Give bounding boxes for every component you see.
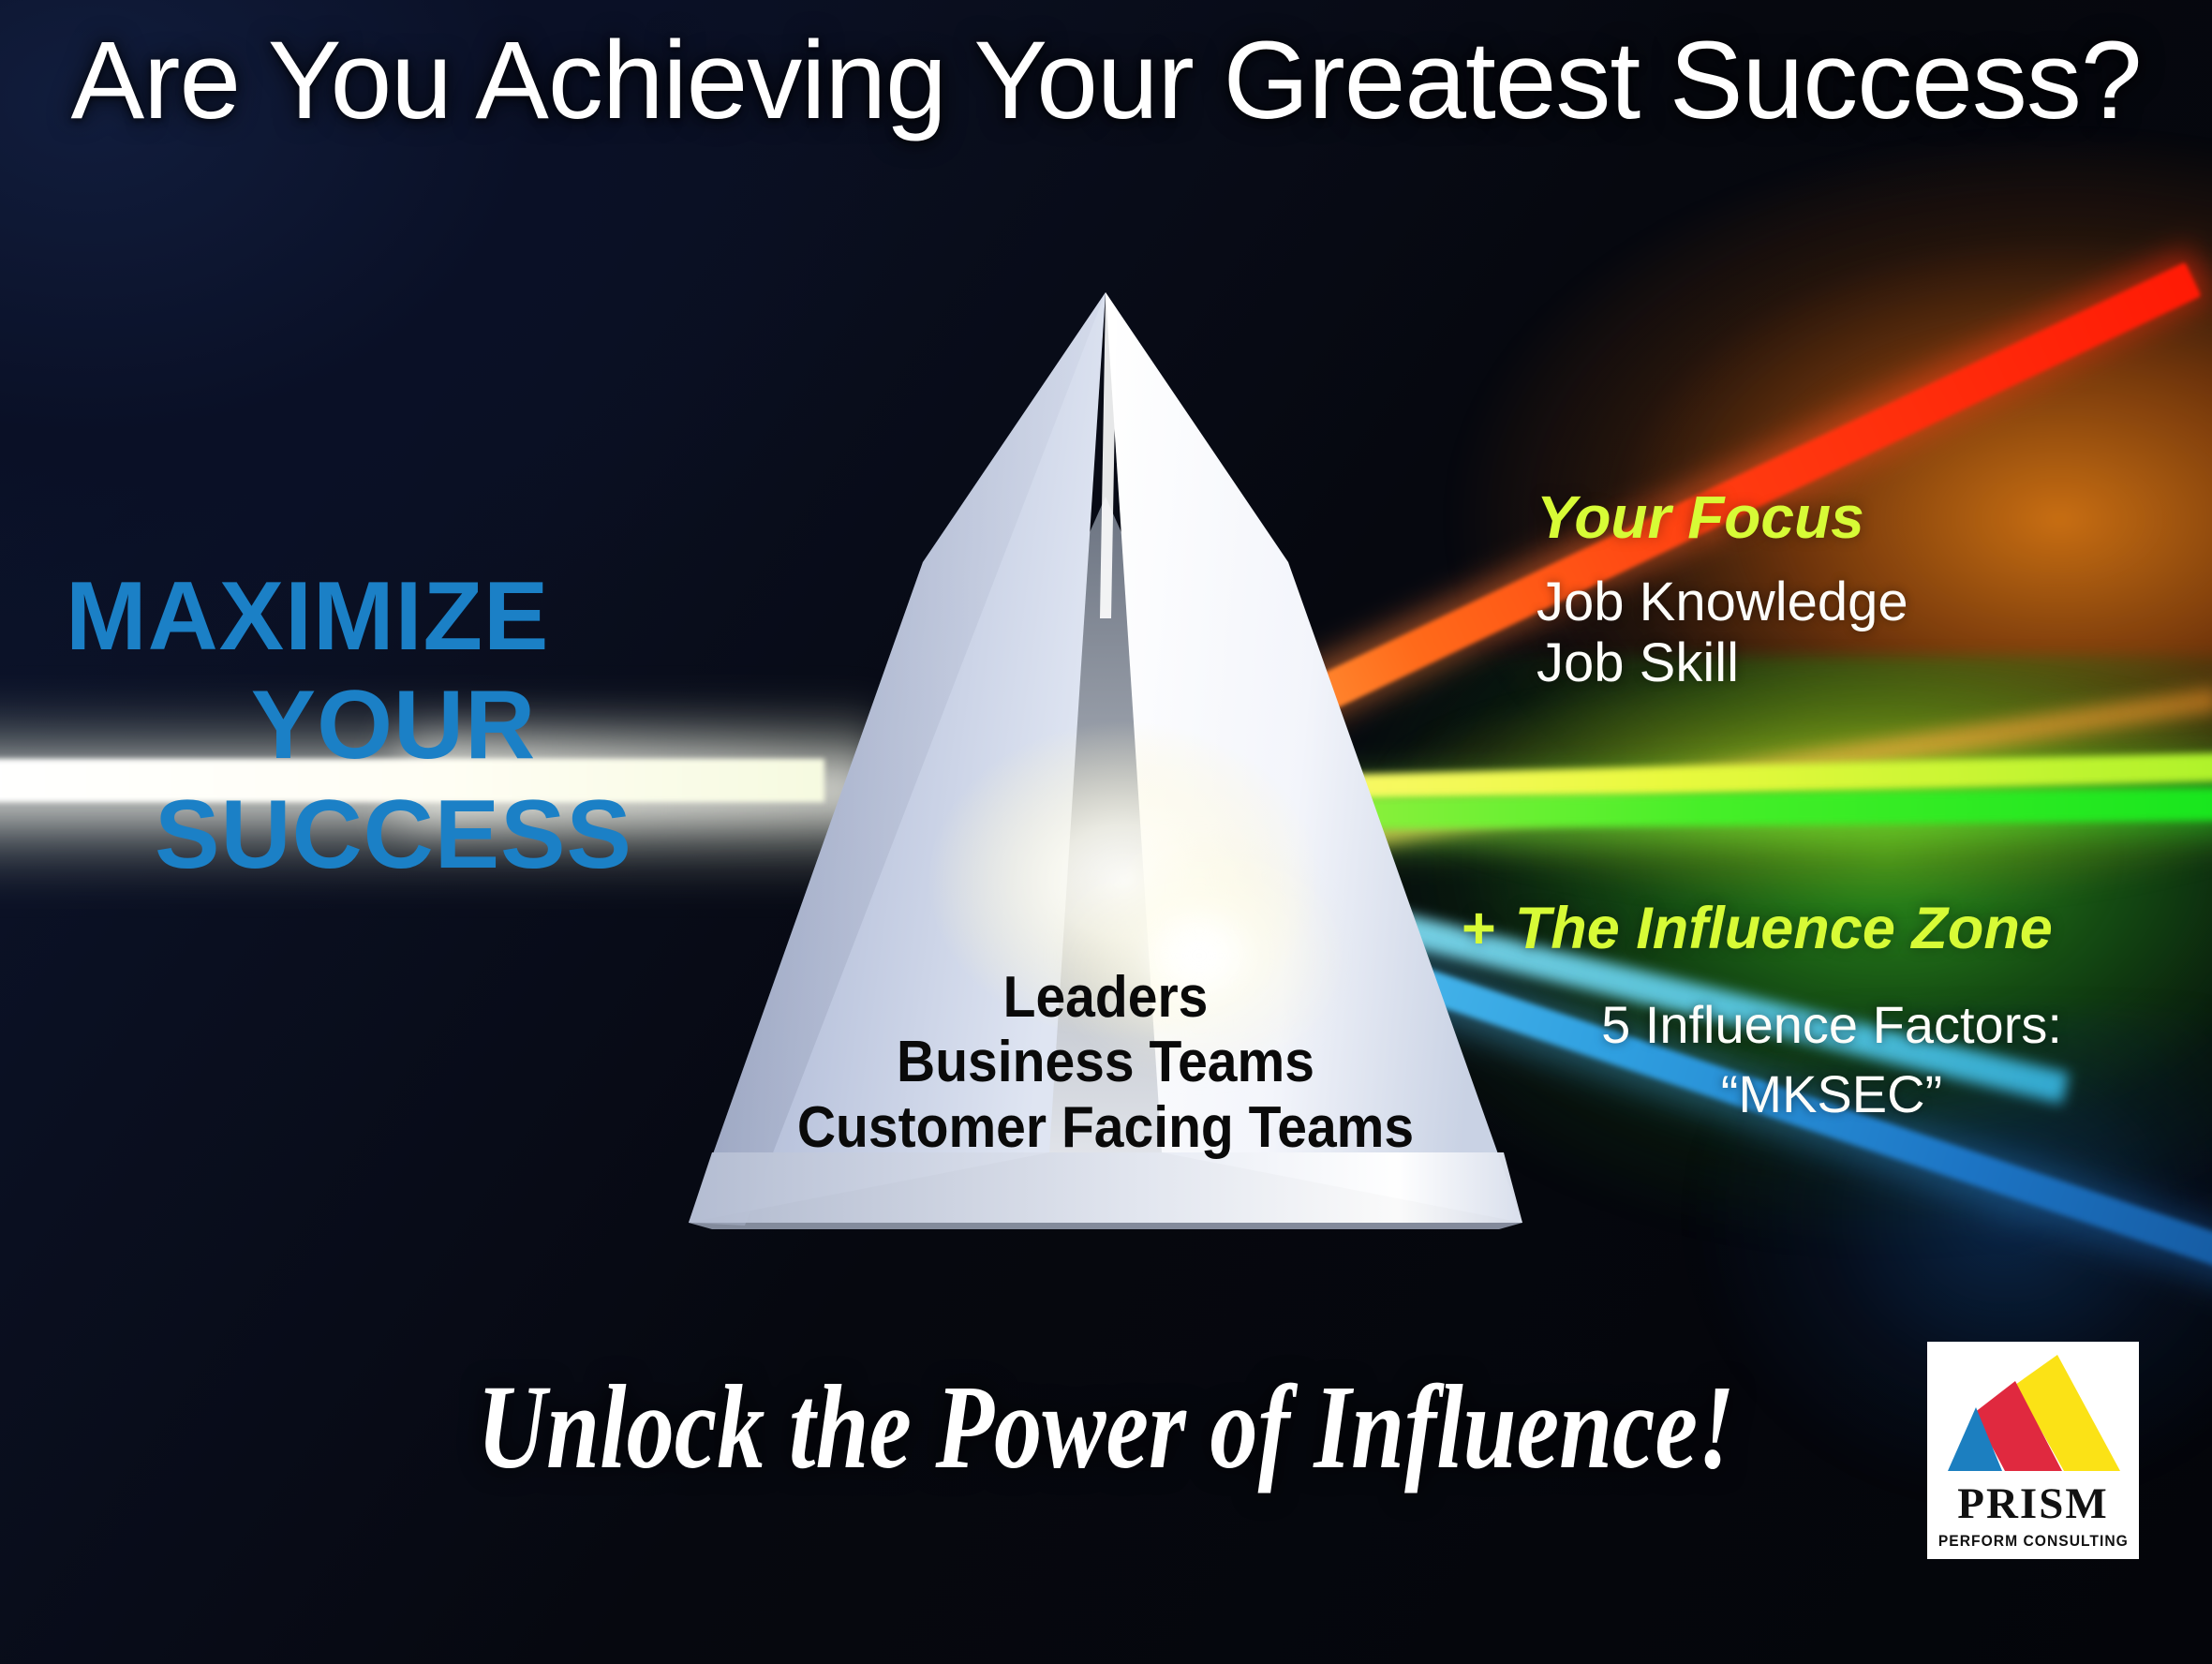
- maximize-line-3: SUCCESS: [66, 780, 721, 889]
- tagline: Unlock the Power of Influence!: [221, 1359, 1991, 1496]
- influence-zone-details: 5 Influence Factors: “MKSEC”: [1462, 990, 2202, 1129]
- prism-logo-tagline: PERFORM CONSULTING: [1937, 1533, 2128, 1549]
- prism-label-line-2: Business Teams: [691, 1030, 1519, 1094]
- prism-label-line-3: Customer Facing Teams: [691, 1095, 1519, 1160]
- influence-zone-title: +The Influence Zone: [1462, 895, 2202, 962]
- your-focus-items: Job Knowledge Job Skill: [1537, 572, 2192, 694]
- focus-item-job-skill: Job Skill: [1537, 633, 2192, 694]
- prism-logo-name: PRISM: [1957, 1482, 2108, 1526]
- plus-icon: +: [1462, 896, 1496, 961]
- poster-slide: Are You Achieving Your Greatest Success?…: [0, 0, 2212, 1664]
- influence-factors-label: 5 Influence Factors:: [1601, 995, 2062, 1054]
- your-focus-block: Your Focus Job Knowledge Job Skill: [1537, 483, 2192, 694]
- prism-logo-mark: [1946, 1351, 2120, 1478]
- influence-factors-value: “MKSEC”: [1462, 1060, 2202, 1129]
- prism-logo: PRISM PERFORM CONSULTING: [1927, 1342, 2139, 1559]
- prism-label-line-1: Leaders: [691, 965, 1519, 1030]
- influence-zone-block: +The Influence Zone 5 Influence Factors:…: [1462, 895, 2202, 1129]
- maximize-line-1: MAXIMIZE: [66, 562, 721, 671]
- prism-audience-label: Leaders Business Teams Customer Facing T…: [691, 965, 1519, 1160]
- influence-zone-title-text: The Influence Zone: [1515, 896, 2053, 961]
- maximize-heading: MAXIMIZE YOUR SUCCESS: [66, 562, 721, 889]
- maximize-line-2: YOUR: [66, 671, 721, 780]
- page-title: Are You Achieving Your Greatest Success?: [0, 17, 2212, 144]
- focus-item-job-knowledge: Job Knowledge: [1537, 572, 2192, 633]
- your-focus-title: Your Focus: [1537, 483, 2192, 552]
